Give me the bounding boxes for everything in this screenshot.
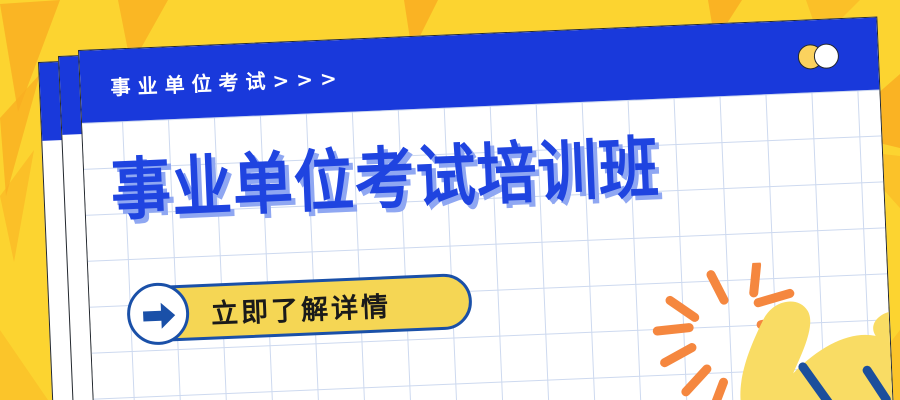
main-card: 事业单位考试>>> 事业单位考试培训班 立即了解详情 <box>78 16 894 400</box>
cta-button-label: 立即了解详情 <box>210 285 391 332</box>
poster-canvas: 事业单位考试>>> 事业单位考试培训班 立即了解详情 <box>0 0 900 400</box>
card-stack: 事业单位考试>>> 事业单位考试培训班 立即了解详情 <box>0 0 900 400</box>
dot-white-icon <box>813 43 839 69</box>
breadcrumb-title: 事业单位考试>>> <box>110 62 344 101</box>
decor-dots <box>797 41 850 73</box>
